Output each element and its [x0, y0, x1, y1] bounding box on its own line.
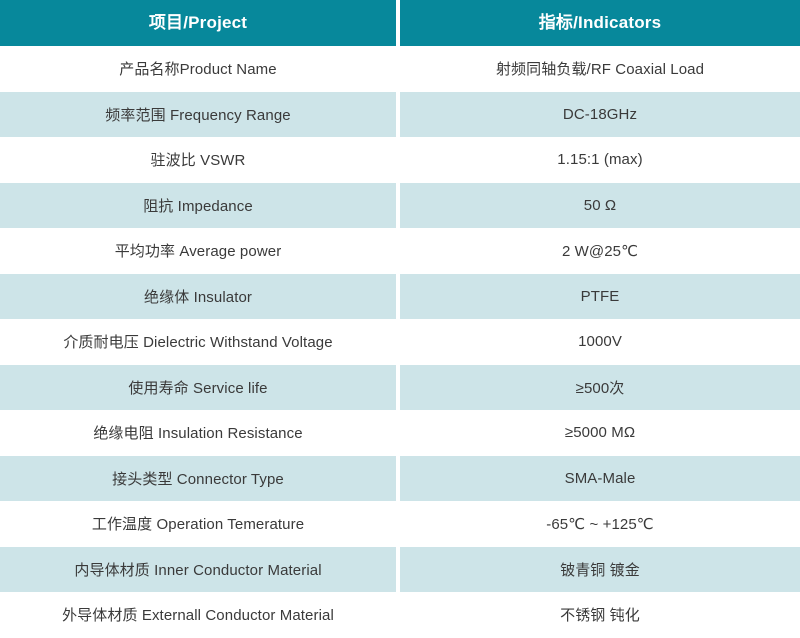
- column-header-indicators: 指标/Indicators: [400, 0, 800, 46]
- column-header-project: 项目/Project: [0, 0, 396, 46]
- table-row: 工作温度 Operation Temerature-65℃ ~ +125℃: [0, 501, 800, 547]
- table-row: 使用寿命 Service life≥500次: [0, 365, 800, 411]
- cell-indicator: 铍青铜 镀金: [400, 547, 800, 593]
- cell-indicator: 2 W@25℃: [400, 228, 800, 274]
- cell-project: 使用寿命 Service life: [0, 365, 396, 411]
- cell-project: 绝缘体 Insulator: [0, 274, 396, 320]
- cell-indicator: ≥5000 MΩ: [400, 410, 800, 456]
- cell-indicator: 射频同轴负载/RF Coaxial Load: [400, 46, 800, 92]
- table-row: 内导体材质 Inner Conductor Material铍青铜 镀金: [0, 547, 800, 593]
- table-body: 产品名称Product Name射频同轴负载/RF Coaxial Load频率…: [0, 46, 800, 638]
- cell-project: 工作温度 Operation Temerature: [0, 501, 396, 547]
- table-header: 项目/Project 指标/Indicators: [0, 0, 800, 46]
- cell-project: 产品名称Product Name: [0, 46, 396, 92]
- table-row: 阻抗 Impedance50 Ω: [0, 183, 800, 229]
- cell-project: 阻抗 Impedance: [0, 183, 396, 229]
- table-row: 频率范围 Frequency RangeDC-18GHz: [0, 92, 800, 138]
- cell-project: 介质耐电压 Dielectric Withstand Voltage: [0, 319, 396, 365]
- cell-indicator: SMA-Male: [400, 456, 800, 502]
- table-row: 平均功率 Average power2 W@25℃: [0, 228, 800, 274]
- cell-indicator: 1000V: [400, 319, 800, 365]
- cell-project: 平均功率 Average power: [0, 228, 396, 274]
- specification-table: 项目/Project 指标/Indicators 产品名称Product Nam…: [0, 0, 800, 638]
- cell-project: 驻波比 VSWR: [0, 137, 396, 183]
- cell-project: 内导体材质 Inner Conductor Material: [0, 547, 396, 593]
- cell-project: 频率范围 Frequency Range: [0, 92, 396, 138]
- table-row: 接头类型 Connector TypeSMA-Male: [0, 456, 800, 502]
- table-row: 驻波比 VSWR1.15:1 (max): [0, 137, 800, 183]
- table-row: 绝缘电阻 Insulation Resistance≥5000 MΩ: [0, 410, 800, 456]
- cell-indicator: DC-18GHz: [400, 92, 800, 138]
- table-row: 绝缘体 InsulatorPTFE: [0, 274, 800, 320]
- cell-indicator: 不锈钢 钝化: [400, 592, 800, 638]
- table-row: 介质耐电压 Dielectric Withstand Voltage1000V: [0, 319, 800, 365]
- table-row: 外导体材质 Externall Conductor Material不锈钢 钝化: [0, 592, 800, 638]
- cell-indicator: ≥500次: [400, 365, 800, 411]
- cell-indicator: PTFE: [400, 274, 800, 320]
- table-row: 产品名称Product Name射频同轴负载/RF Coaxial Load: [0, 46, 800, 92]
- cell-project: 外导体材质 Externall Conductor Material: [0, 592, 396, 638]
- cell-indicator: 50 Ω: [400, 183, 800, 229]
- cell-indicator: 1.15:1 (max): [400, 137, 800, 183]
- cell-indicator: -65℃ ~ +125℃: [400, 501, 800, 547]
- cell-project: 接头类型 Connector Type: [0, 456, 396, 502]
- cell-project: 绝缘电阻 Insulation Resistance: [0, 410, 396, 456]
- table-header-row: 项目/Project 指标/Indicators: [0, 0, 800, 46]
